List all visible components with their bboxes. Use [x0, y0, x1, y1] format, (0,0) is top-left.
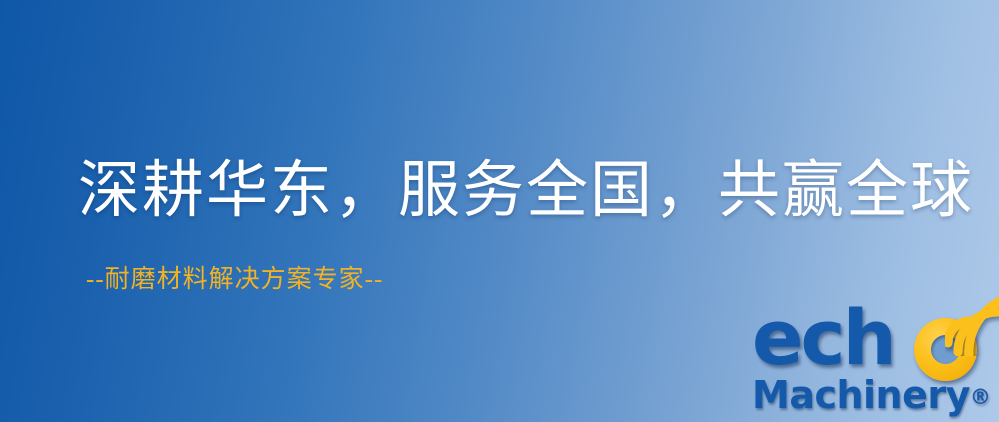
promo-banner: 深耕华东，服务全国，共赢全球 --耐磨材料解决方案专家-- ech	[0, 0, 999, 422]
brand-logo: ech Machinery®	[745, 290, 999, 422]
signal-waves-icon	[945, 286, 999, 356]
logo-wordmark-text: Machinery	[752, 373, 970, 417]
logo-echo-text: ech	[752, 295, 894, 381]
logo-wordmark: Machinery®	[752, 374, 991, 418]
page-subtitle: --耐磨材料解决方案专家--	[86, 263, 383, 297]
page-title: 深耕华东，服务全国，共赢全球	[78, 149, 948, 233]
registered-trademark-icon: ®	[970, 385, 991, 409]
logo-mark: ech	[745, 290, 999, 385]
